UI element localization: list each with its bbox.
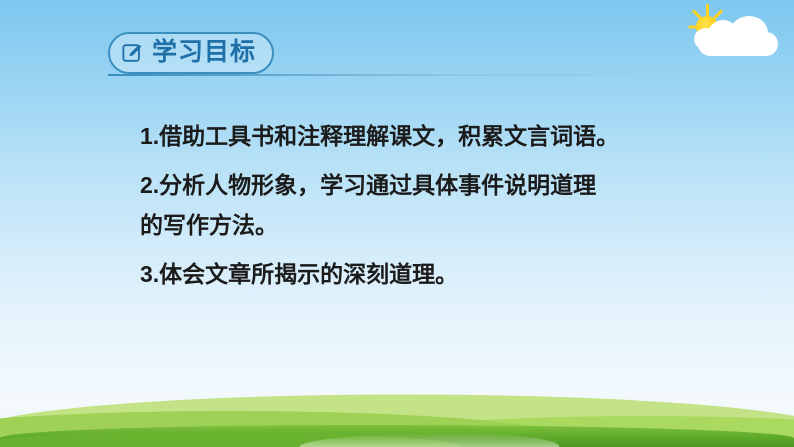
objective-line-1: 1.借助工具书和注释理解课文，积累文言词语。 (140, 120, 760, 153)
title-divider (108, 74, 668, 76)
weather-decoration (672, 6, 782, 68)
landscape-decoration (0, 387, 794, 447)
objective-line-2-continued: 的写作方法。 (140, 209, 760, 242)
objective-line-3: 3.体会文章所揭示的深刻道理。 (140, 258, 760, 291)
page-title: 学习目标 (152, 40, 256, 65)
cloud-icon (698, 32, 778, 56)
objective-line-2: 2.分析人物形象，学习通过具体事件说明道理 (140, 169, 760, 202)
objectives-list: 1.借助工具书和注释理解课文，积累文言词语。 2.分析人物形象，学习通过具体事件… (140, 120, 760, 307)
slide-canvas: 学习目标 1.借助工具书和注释理解课文，积累文言词语。 2.分析人物形象，学习通… (0, 0, 794, 447)
section-title-badge: 学习目标 (108, 32, 274, 74)
pencil-edit-icon (122, 42, 144, 64)
